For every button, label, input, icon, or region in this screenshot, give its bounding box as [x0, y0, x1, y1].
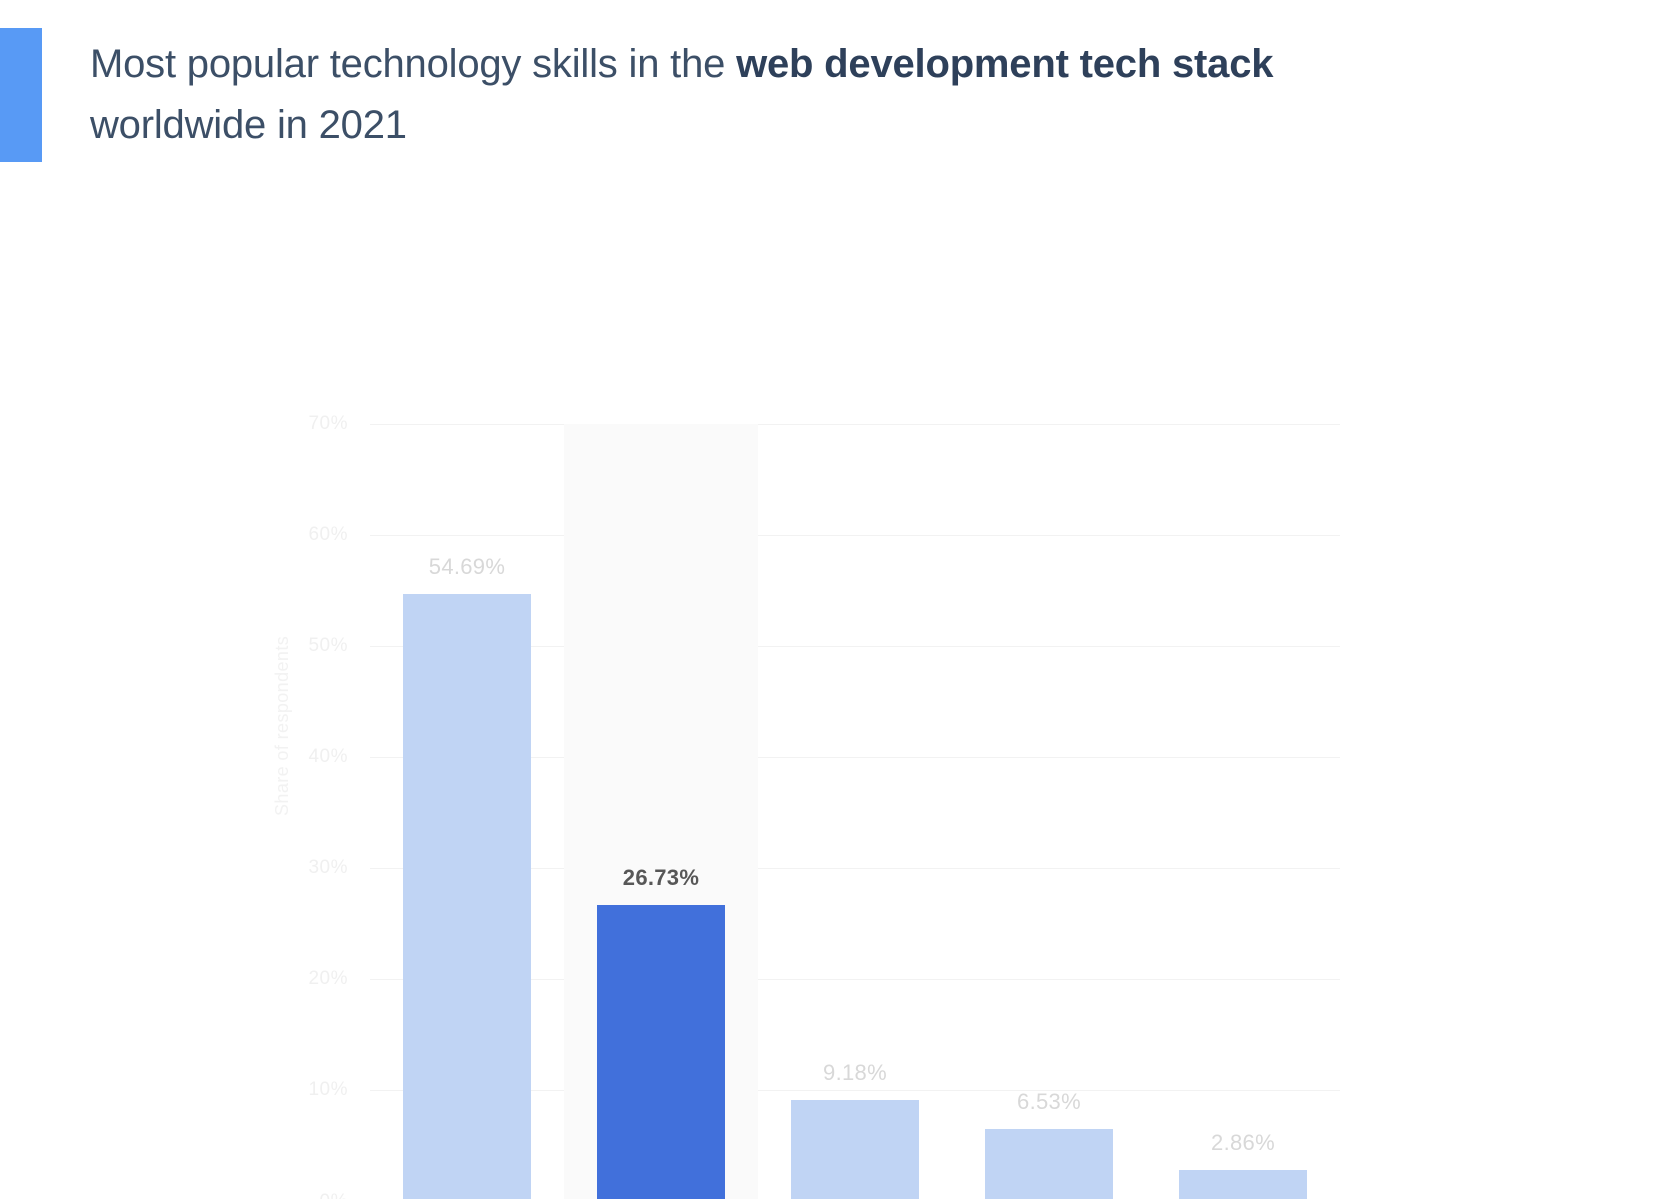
bar[interactable] [791, 1100, 919, 1199]
y-axis-tick-label: 70% [308, 413, 348, 435]
bar[interactable] [985, 1129, 1113, 1199]
title-text-part1: Most popular technology skills in the [90, 42, 736, 86]
bar-value-label: 6.53% [1017, 1089, 1081, 1115]
bar[interactable] [403, 594, 531, 1199]
bars-layer: 54.69%26.73%9.18%6.53%2.86% [370, 424, 1340, 1199]
bar-chart: 54.69%26.73%9.18%6.53%2.86% 70%60%50%40%… [0, 156, 1674, 1156]
bar-slot[interactable]: 54.69% [370, 424, 564, 1199]
page-title: Most popular technology skills in the we… [90, 34, 1380, 156]
bar-slot[interactable]: 2.86% [1146, 424, 1340, 1199]
bar[interactable] [597, 905, 725, 1199]
title-text-part2: worldwide in 2021 [90, 103, 407, 147]
bar-value-label: 54.69% [429, 554, 505, 580]
bar-slot[interactable]: 26.73% [564, 424, 758, 1199]
y-axis-title: Share of respondents [272, 635, 293, 815]
y-axis-tick-label: 30% [308, 857, 348, 879]
y-axis-tick-label: 40% [308, 746, 348, 768]
y-axis-tick-label: 0% [320, 1191, 348, 1199]
title-text-bold: web development tech stack [736, 42, 1273, 86]
bar-slot[interactable]: 6.53% [952, 424, 1146, 1199]
y-axis-tick-label: 20% [308, 968, 348, 990]
accent-bar [0, 28, 42, 162]
bar-value-label: 26.73% [623, 865, 699, 891]
y-axis-tick-label: 10% [308, 1079, 348, 1101]
bar-value-label: 9.18% [823, 1060, 887, 1086]
y-axis-tick-label: 50% [308, 635, 348, 657]
y-axis-tick-label: 60% [308, 524, 348, 546]
bar-value-label: 2.86% [1211, 1130, 1275, 1156]
page-header: Most popular technology skills in the we… [0, 0, 1674, 156]
bar[interactable] [1179, 1170, 1307, 1199]
bar-slot[interactable]: 9.18% [758, 424, 952, 1199]
